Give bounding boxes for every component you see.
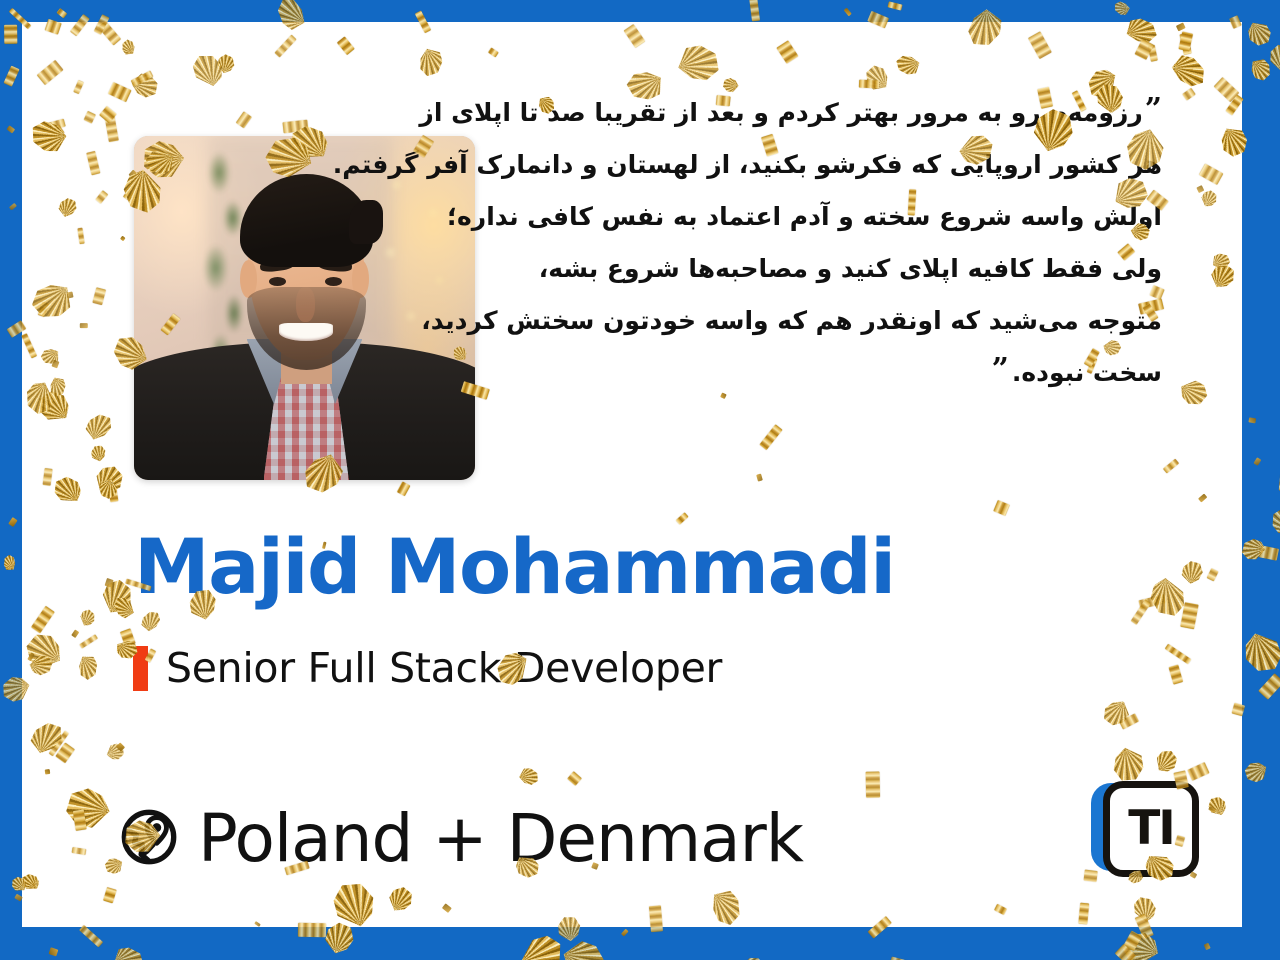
quote-line-6: سخت نبوده.”: [462, 347, 1162, 399]
confetti-piece: [8, 203, 16, 210]
confetti-piece: [111, 943, 147, 960]
content-panel: ”رزومه‌م رو به مرور بهتر کردم و بعد از ت…: [22, 22, 1242, 927]
confetti-piece: [888, 1, 903, 10]
confetti-piece: [1251, 59, 1270, 81]
confetti-piece: [1248, 417, 1256, 423]
quote-close-mark: ”: [992, 352, 1009, 387]
confetti-piece: [1242, 759, 1268, 784]
confetti-piece: [516, 930, 568, 960]
person-location: Poland + Denmark: [198, 800, 803, 877]
confetti-piece: [1272, 507, 1280, 535]
confetti-piece: [79, 925, 103, 947]
testimonial-quote: ”رزومه‌م رو به مرور بهتر کردم و بعد از ت…: [462, 87, 1162, 399]
logo-monogram: TI: [1128, 805, 1174, 852]
confetti-piece: [3, 66, 18, 86]
quote-line-1: ”رزومه‌م رو به مرور بهتر کردم و بعد از ت…: [462, 87, 1162, 139]
confetti-piece: [4, 25, 17, 44]
confetti-piece: [1259, 545, 1279, 560]
person-location-row: Poland + Denmark: [118, 800, 803, 877]
photo-nose: [296, 287, 315, 321]
confetti-piece: [3, 554, 16, 571]
quote-line-text: هر کشور اروپایی که فکرشو بکنید، از لهستا…: [333, 150, 1162, 179]
confetti-piece: [1112, 0, 1131, 17]
testimonial-card: ”رزومه‌م رو به مرور بهتر کردم و بعد از ت…: [0, 0, 1280, 960]
logo-outline-square: TI: [1103, 781, 1199, 877]
confetti-piece: [1258, 673, 1280, 699]
person-role-row: Senior Full Stack Developer: [133, 644, 722, 692]
confetti-piece: [48, 948, 58, 957]
confetti-piece: [56, 8, 67, 19]
person-role: Senior Full Stack Developer: [166, 644, 722, 692]
confetti-piece: [1119, 927, 1161, 960]
quote-line-text: اولش واسه شروع سخته و آدم اعتماد به نفس …: [447, 202, 1162, 231]
confetti-piece: [1115, 944, 1136, 960]
photo-and-quote-row: ”رزومه‌م رو به مرور بهتر کردم و بعد از ت…: [22, 22, 1242, 492]
confetti-piece: [621, 929, 628, 936]
confetti-piece: [1238, 534, 1268, 563]
confetti-piece: [1204, 942, 1211, 950]
globe-icon: [118, 806, 180, 872]
confetti-piece: [560, 936, 610, 960]
confetti-piece: [9, 517, 18, 527]
brand-logo[interactable]: TI: [1091, 781, 1195, 885]
confetti-piece: [1238, 630, 1280, 678]
confetti-piece: [749, 0, 760, 22]
quote-line-text: متوجه می‌شید که اونقدر هم که واسه خودتون…: [421, 306, 1162, 335]
confetti-piece: [736, 953, 768, 960]
quote-line-2: هر کشور اروپایی که فکرشو بکنید، از لهستا…: [462, 139, 1162, 191]
confetti-piece: [1124, 930, 1142, 951]
quote-line-4: ولی فقط کافیه اپلای کنید و مصاحبه‌ها شرو…: [462, 243, 1162, 295]
quote-line-5: متوجه می‌شید که اونقدر هم که واسه خودتون…: [462, 295, 1162, 347]
confetti-piece: [844, 7, 852, 16]
photo-eye-left: [269, 277, 286, 286]
quote-open-mark: ”: [1145, 92, 1162, 127]
quote-line-text: ولی فقط کافیه اپلای کنید و مصاحبه‌ها شرو…: [539, 254, 1162, 283]
confetti-piece: [1265, 41, 1280, 75]
photo-eye-right: [325, 277, 342, 286]
quote-line-3: اولش واسه شروع سخته و آدم اعتماد به نفس …: [462, 191, 1162, 243]
quote-line-text: سخت نبوده.: [1012, 358, 1162, 387]
confetti-piece: [1253, 457, 1261, 465]
confetti-piece: [6, 125, 15, 134]
confetti-piece: [889, 956, 912, 960]
confetti-piece: [1245, 20, 1273, 47]
quote-line-text: رزومه‌م رو به مرور بهتر کردم و بعد از تق…: [419, 98, 1142, 127]
role-accent-bar: [133, 646, 148, 691]
person-name: Majid Mohammadi: [134, 522, 895, 611]
